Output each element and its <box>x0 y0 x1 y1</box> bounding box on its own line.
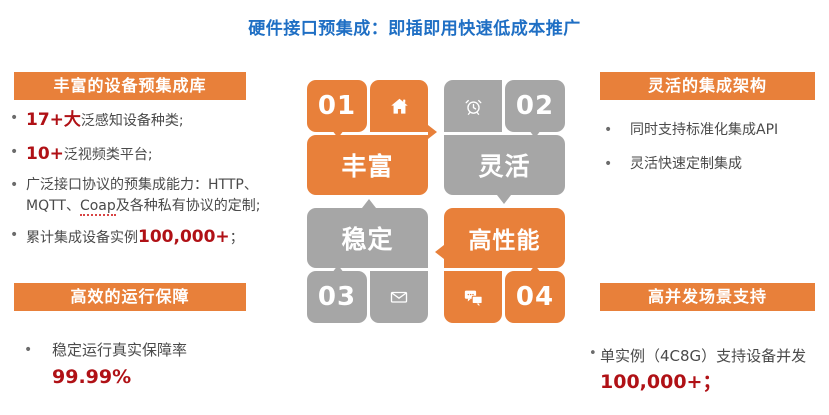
quadrant-04-number: 04 <box>516 282 554 312</box>
quadrant-02-label: 灵活 <box>478 147 530 183</box>
quadrant-02-number-badge[interactable]: 02 <box>505 80 565 132</box>
concurrency-value: 100,000+； <box>600 371 721 393</box>
list-item: 99.99% <box>24 364 294 392</box>
home-icon <box>389 96 410 117</box>
quadrant-04-number-badge[interactable]: 04 <box>505 271 565 323</box>
quadrant-03-number-badge[interactable]: 03 <box>307 271 367 323</box>
emphasis-value: 100,000+ <box>138 227 230 247</box>
bullet-marker: • <box>10 108 26 128</box>
list-item: • 同时支持标准化集成API <box>604 120 829 140</box>
list-item-text: 灵活快速定制集成 <box>630 154 829 174</box>
quadrant-04-label-block[interactable]: 高性能 <box>444 208 565 268</box>
list-item: • 10+泛视频类平台; <box>10 142 302 167</box>
quadrant-04-badge-notch <box>529 265 541 273</box>
bullet-list-high-concurrency: • 单实例（4C8G）支持设备并发100,000+； <box>589 345 829 407</box>
list-item-text: 单实例（4C8G）支持设备并发100,000+； <box>600 345 829 398</box>
quadrant-03-number: 03 <box>318 282 356 312</box>
quadrant-01-number: 01 <box>318 91 356 121</box>
emphasis-value: 17+大 <box>26 110 81 130</box>
list-item-tail: 泛视频类平台; <box>64 147 153 163</box>
quadrant-02-flow-arrow <box>497 195 511 204</box>
quadrant-01-label-block[interactable]: 丰富 <box>307 135 428 195</box>
bullet-marker: • <box>10 142 26 162</box>
list-item-tail: ； <box>230 230 244 246</box>
bullet-marker: • <box>604 120 630 140</box>
list-item-head: 累计集成设备实例 <box>26 230 138 246</box>
list-item-text: 广泛接口协议的预集成能力：HTTP、MQTT、Coap及各种私有协议的定制; <box>26 175 302 216</box>
chat-bubbles-icon <box>463 288 484 307</box>
panel-header-flexible-architecture: 灵活的集成架构 <box>600 72 815 100</box>
bullet-marker: • <box>10 175 26 195</box>
emphasis-value: 10+ <box>26 144 64 164</box>
quadrant-03-badge-notch <box>332 265 344 273</box>
list-item: • 单实例（4C8G）支持设备并发100,000+； <box>589 345 829 398</box>
bullet-marker: • <box>589 345 600 364</box>
bullet-list-flexible-architecture: • 同时支持标准化集成API • 灵活快速定制集成 <box>604 120 829 184</box>
envelope-icon <box>389 287 409 307</box>
list-item-tail: 泛感知设备种类; <box>81 113 184 129</box>
list-item-text: 稳定运行真实保障率 <box>52 340 294 362</box>
bullet-list-efficient-operation: • 稳定运行真实保障率 99.99% <box>24 340 294 400</box>
quadrant-01-label: 丰富 <box>341 147 393 183</box>
panel-header-high-concurrency: 高并发场景支持 <box>600 283 815 311</box>
page-title: 硬件接口预集成：即插即用快速低成本推广 <box>0 14 829 39</box>
quadrant-04-label: 高性能 <box>469 221 541 255</box>
list-item: • 稳定运行真实保障率 <box>24 340 294 362</box>
bullet-marker: • <box>10 225 26 245</box>
bullet-list-rich-device-library: • 17+大泛感知设备种类; • 10+泛视频类平台; • 广泛接口协议的预集成… <box>10 108 302 259</box>
quadrant-04-icon-block[interactable] <box>444 271 502 323</box>
quadrant-02-label-block[interactable]: 灵活 <box>444 135 565 195</box>
list-item-text: 同时支持标准化集成API <box>630 120 829 140</box>
list-item-text: 10+泛视频类平台; <box>26 142 302 167</box>
panel-header-rich-device-library: 丰富的设备预集成库 <box>14 72 246 100</box>
list-item-text: 17+大泛感知设备种类; <box>26 108 302 133</box>
bullet-marker: • <box>24 340 52 360</box>
quadrant-02-number: 02 <box>516 91 554 121</box>
alarm-clock-icon <box>464 97 483 116</box>
quadrant-01-icon-block[interactable] <box>370 80 428 132</box>
quadrant-03-flow-arrow <box>362 199 376 208</box>
quadrant-03-label-block[interactable]: 稳定 <box>307 208 428 268</box>
list-item-tail: 及各种私有协议的定制; <box>116 198 261 214</box>
list-item-head: 单实例（4C8G）支持设备并发 <box>600 347 806 365</box>
quadrant-03-label: 稳定 <box>341 220 393 256</box>
list-item: • 17+大泛感知设备种类; <box>10 108 302 133</box>
uptime-value: 99.99% <box>52 364 294 392</box>
quadrant-03-icon-block[interactable] <box>370 271 428 323</box>
list-item-text: 累计集成设备实例100,000+； <box>26 225 302 250</box>
quadrant-04-flow-arrow <box>435 245 444 259</box>
four-quadrant-diagram: 01 丰富 <box>307 80 565 320</box>
list-item: • 累计集成设备实例100,000+； <box>10 225 302 250</box>
spellcheck-term: Coap <box>80 198 116 216</box>
quadrant-01-flow-arrow <box>428 125 437 139</box>
quadrant-01-number-badge[interactable]: 01 <box>307 80 367 132</box>
list-item: • 灵活快速定制集成 <box>604 154 829 174</box>
quadrant-02-icon-block[interactable] <box>444 80 502 132</box>
panel-header-efficient-operation: 高效的运行保障 <box>14 283 246 311</box>
bullet-marker: • <box>604 154 630 174</box>
list-item: • 广泛接口协议的预集成能力：HTTP、MQTT、Coap及各种私有协议的定制; <box>10 175 302 216</box>
